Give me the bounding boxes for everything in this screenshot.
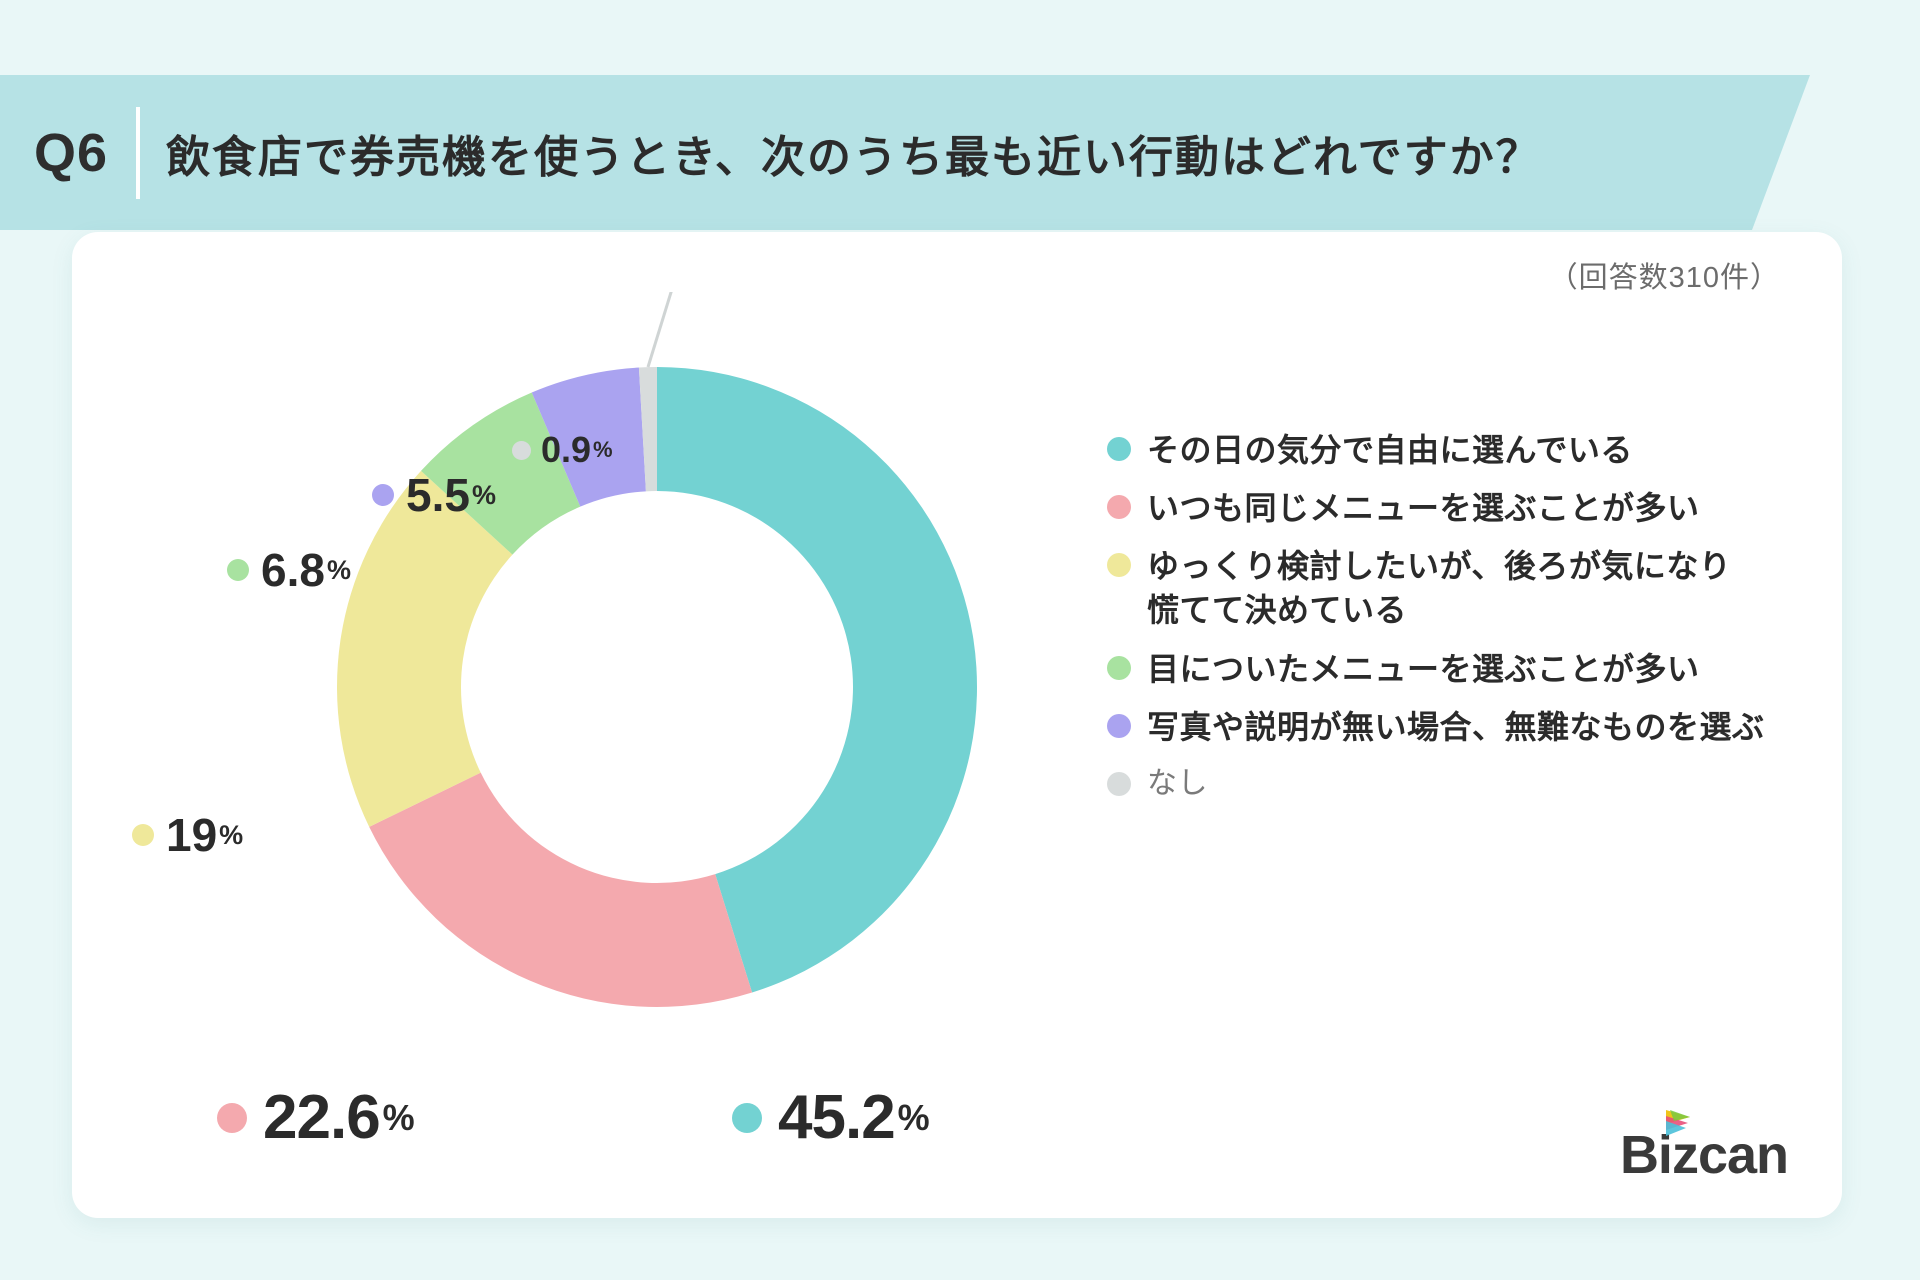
value-callout: 0.9% [512, 432, 613, 468]
callout-color-dot-icon [217, 1103, 247, 1133]
legend-label-line: なし [1147, 763, 1208, 804]
legend-item[interactable]: その日の気分で自由に選んでいる [1107, 428, 1807, 472]
legend-color-dot-icon [1107, 772, 1131, 796]
value-callout: 5.5% [372, 472, 496, 518]
slide-canvas: Q6 飲食店で券売機を使うとき、次のうち最も近い行動はどれですか？ （回答数31… [0, 0, 1920, 1280]
legend-label-line: いつも同じメニューを選ぶことが多い [1147, 486, 1700, 530]
header-divider [136, 107, 140, 199]
chart-card: （回答数310件） 45.2%22.6%19%6.8%5.5%0.9% その日の… [72, 232, 1842, 1218]
callout-percent-sign: % [898, 1100, 930, 1136]
value-callout: 6.8% [227, 547, 351, 593]
legend-color-dot-icon [1107, 656, 1131, 680]
callout-color-dot-icon [512, 441, 531, 460]
callout-color-dot-icon [132, 824, 154, 846]
legend-color-dot-icon [1107, 714, 1131, 738]
bizcan-logo-mark-icon [1664, 1108, 1692, 1138]
callout-percent-sign: % [383, 1100, 415, 1136]
legend-color-dot-icon [1107, 553, 1131, 577]
donut-chart-svg [262, 292, 1052, 1082]
question-text: 飲食店で券売機を使うとき、次のうち最も近い行動はどれですか？ [166, 121, 1542, 185]
legend-item-label: ゆっくり検討したいが、後ろが気になり慌てて決めている [1147, 544, 1731, 632]
legend-item-label: なし [1147, 763, 1208, 804]
donut-slice [369, 773, 752, 1007]
legend-label-line: その日の気分で自由に選んでいる [1147, 428, 1633, 472]
legend-item[interactable]: 目についたメニューを選ぶことが多い [1107, 647, 1807, 691]
callout-color-dot-icon [732, 1103, 762, 1133]
legend-item-label: いつも同じメニューを選ぶことが多い [1147, 486, 1700, 530]
legend-item[interactable]: なし [1107, 763, 1807, 804]
leader-line-none [648, 292, 688, 367]
legend-item-label: 写真や説明が無い場合、無難なものを選ぶ [1147, 705, 1765, 749]
callout-color-dot-icon [227, 559, 249, 581]
callout-percent-sign: % [219, 822, 243, 849]
question-number: Q6 [34, 126, 108, 180]
callout-percent-sign: % [593, 439, 613, 461]
callout-percent-sign: % [472, 482, 496, 509]
question-header-band: Q6 飲食店で券売機を使うとき、次のうち最も近い行動はどれですか？ [0, 75, 1810, 230]
legend-label-line: 写真や説明が無い場合、無難なものを選ぶ [1147, 705, 1765, 749]
callout-color-dot-icon [372, 484, 394, 506]
callout-value: 6.8 [261, 547, 325, 593]
callout-percent-sign: % [327, 557, 351, 584]
callout-value: 5.5 [406, 472, 470, 518]
legend-item[interactable]: 写真や説明が無い場合、無難なものを選ぶ [1107, 705, 1807, 749]
value-callout: 22.6% [217, 1087, 415, 1149]
legend-item-label: 目についたメニューを選ぶことが多い [1147, 647, 1700, 691]
legend-color-dot-icon [1107, 495, 1131, 519]
legend-label-line: 目についたメニューを選ぶことが多い [1147, 647, 1700, 691]
legend-item-label: その日の気分で自由に選んでいる [1147, 428, 1633, 472]
legend-item[interactable]: ゆっくり検討したいが、後ろが気になり慌てて決めている [1107, 544, 1807, 632]
value-callout: 19% [132, 812, 243, 858]
donut-chart [262, 292, 1052, 1082]
chart-legend: その日の気分で自由に選んでいるいつも同じメニューを選ぶことが多いゆっくり検討した… [1107, 428, 1807, 818]
legend-label-line: 慌てて決めている [1147, 588, 1731, 632]
bizcan-logo-text: Bizcan [1620, 1128, 1788, 1182]
callout-value: 0.9 [541, 432, 591, 468]
bizcan-logo: Bizcan [1620, 1128, 1788, 1182]
response-count-label: （回答数310件） [1549, 254, 1780, 296]
value-callout: 45.2% [732, 1087, 930, 1149]
callout-value: 19 [166, 812, 217, 858]
legend-color-dot-icon [1107, 437, 1131, 461]
callout-value: 22.6 [263, 1087, 380, 1149]
legend-label-line: ゆっくり検討したいが、後ろが気になり [1147, 544, 1731, 588]
donut-slice-group [337, 367, 977, 1007]
legend-item[interactable]: いつも同じメニューを選ぶことが多い [1107, 486, 1807, 530]
callout-value: 45.2 [778, 1087, 895, 1149]
